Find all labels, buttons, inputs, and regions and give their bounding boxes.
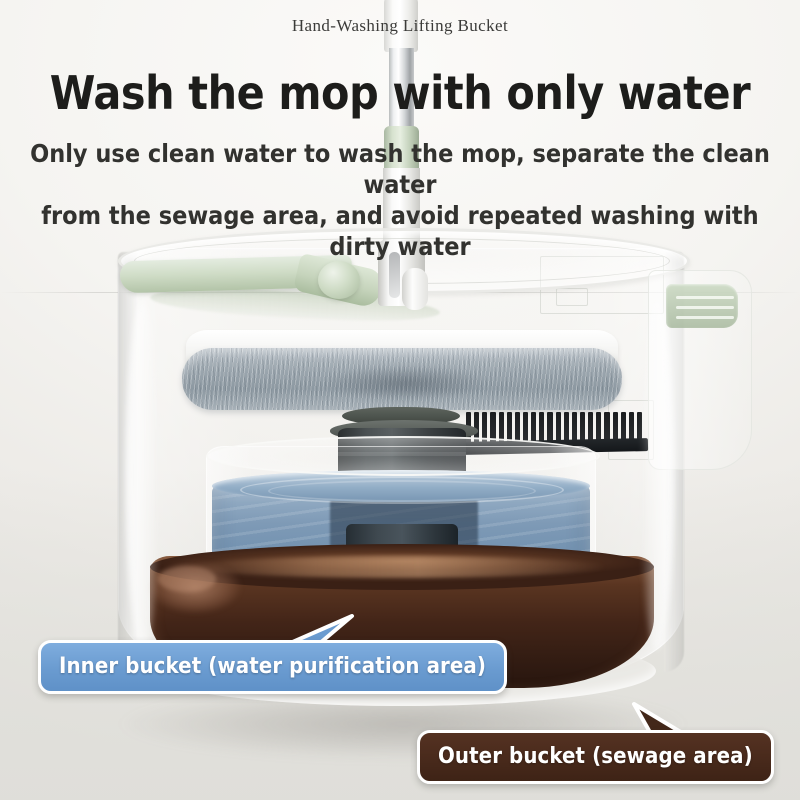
page-headline: Wash the mop with only water (0, 66, 800, 120)
mop-fleece-shadow (300, 360, 510, 406)
glass-highlight-right (640, 300, 674, 650)
green-lift-handle-pivot-boss (318, 261, 360, 299)
subheadline-line-2: from the sewage area, and avoid repeated… (22, 200, 778, 262)
handle-mount-slot-3 (676, 316, 734, 319)
subheadline-line-1: Only use clean water to wash the mop, se… (22, 138, 778, 200)
glass-highlight-left (126, 300, 160, 650)
callout-outer-bucket[interactable]: Outer bucket (sewage area) (417, 730, 774, 784)
handle-mount-slot-2 (676, 306, 734, 309)
clean-water-ripple-2 (268, 480, 536, 502)
mop-pole-pivot (402, 268, 428, 310)
handle-mount-slot-1 (676, 296, 734, 299)
product-marketing-image: Hand-Washing Lifting Bucket Wash the mop… (0, 0, 800, 800)
callout-inner-bucket[interactable]: Inner bucket (water purification area) (38, 640, 507, 694)
page-subheadline: Only use clean water to wash the mop, se… (22, 138, 778, 262)
bucket-inner-moulding-b (556, 288, 588, 306)
inner-bucket-rim (206, 436, 600, 476)
hand-finger (158, 566, 216, 592)
product-eyebrow-title: Hand-Washing Lifting Bucket (0, 16, 800, 36)
